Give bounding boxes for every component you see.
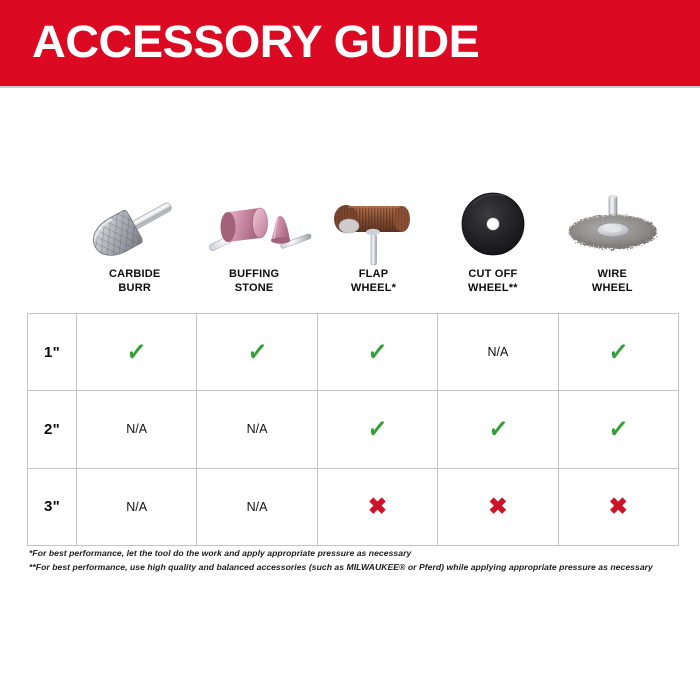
cell-3in-flap-wheel: ✖ xyxy=(317,468,437,545)
cell-2in-flap-wheel: ✓ xyxy=(317,391,437,468)
check-icon: ✓ xyxy=(246,337,267,367)
row-label-2in: 2" xyxy=(28,391,77,468)
row-label-1in: 1" xyxy=(28,314,77,391)
na-label: N/A xyxy=(247,500,268,514)
cut-off-wheel-icon xyxy=(433,186,552,266)
check-icon: ✓ xyxy=(487,414,508,444)
product-label: FLAP WHEEL* xyxy=(314,268,433,295)
footnote-single-asterisk: *For best performance, let the tool do t… xyxy=(29,547,679,561)
cross-icon: ✖ xyxy=(488,495,507,518)
product-label: CUT OFF WHEEL** xyxy=(433,268,552,295)
na-label: N/A xyxy=(487,345,508,359)
page-title: ACCESSORY GUIDE xyxy=(32,16,479,68)
cell-1in-flap-wheel: ✓ xyxy=(317,314,437,391)
cell-1in-cut-off-wheel: N/A xyxy=(438,314,558,391)
header-divider xyxy=(0,86,700,88)
cell-3in-buffing-stone: N/A xyxy=(197,468,317,545)
check-icon: ✓ xyxy=(126,337,147,367)
carbide-burr-icon xyxy=(75,186,194,266)
check-icon: ✓ xyxy=(608,414,629,444)
flap-wheel-icon xyxy=(314,186,433,266)
cell-1in-carbide-burr: ✓ xyxy=(77,314,197,391)
footnotes: *For best performance, let the tool do t… xyxy=(29,547,679,574)
product-strip: CARBIDE BURR xyxy=(75,186,672,301)
check-icon: ✓ xyxy=(608,337,629,367)
table-row: 2" N/A N/A ✓ ✓ ✓ xyxy=(28,391,679,468)
cross-icon: ✖ xyxy=(368,495,387,518)
cross-icon: ✖ xyxy=(609,495,628,518)
table-row: 3" N/A N/A ✖ ✖ ✖ xyxy=(28,468,679,545)
cell-2in-carbide-burr: N/A xyxy=(77,391,197,468)
wire-wheel-icon xyxy=(553,186,672,266)
product-cut-off-wheel: CUT OFF WHEEL** xyxy=(433,186,552,301)
product-label: BUFFING STONE xyxy=(194,268,313,295)
table-row: 1" ✓ ✓ ✓ N/A ✓ xyxy=(28,314,679,391)
na-label: N/A xyxy=(126,500,147,514)
cell-2in-cut-off-wheel: ✓ xyxy=(438,391,558,468)
header-banner: ACCESSORY GUIDE xyxy=(0,0,700,86)
cell-3in-carbide-burr: N/A xyxy=(77,468,197,545)
buffing-stone-icon xyxy=(194,186,313,266)
cell-1in-buffing-stone: ✓ xyxy=(197,314,317,391)
cell-2in-wire-wheel: ✓ xyxy=(558,391,678,468)
cell-2in-buffing-stone: N/A xyxy=(197,391,317,468)
cell-1in-wire-wheel: ✓ xyxy=(558,314,678,391)
product-carbide-burr: CARBIDE BURR xyxy=(75,186,194,301)
na-label: N/A xyxy=(247,422,268,436)
row-label-3in: 3" xyxy=(28,468,77,545)
check-icon: ✓ xyxy=(367,414,388,444)
table-body: 1" ✓ ✓ ✓ N/A ✓ 2" N/A N/A ✓ ✓ ✓ 3" N/A N… xyxy=(28,314,679,546)
na-label: N/A xyxy=(126,422,147,436)
product-label: CARBIDE BURR xyxy=(75,268,194,295)
check-icon: ✓ xyxy=(367,337,388,367)
cell-3in-wire-wheel: ✖ xyxy=(558,468,678,545)
product-buffing-stone: BUFFING STONE xyxy=(194,186,313,301)
compatibility-table: 1" ✓ ✓ ✓ N/A ✓ 2" N/A N/A ✓ ✓ ✓ 3" N/A N… xyxy=(27,313,679,546)
product-flap-wheel: FLAP WHEEL* xyxy=(314,186,433,301)
cell-3in-cut-off-wheel: ✖ xyxy=(438,468,558,545)
footnote-double-asterisk: **For best performance, use high quality… xyxy=(29,561,679,575)
product-label: WIRE WHEEL xyxy=(553,268,672,295)
product-wire-wheel: WIRE WHEEL xyxy=(553,186,672,301)
